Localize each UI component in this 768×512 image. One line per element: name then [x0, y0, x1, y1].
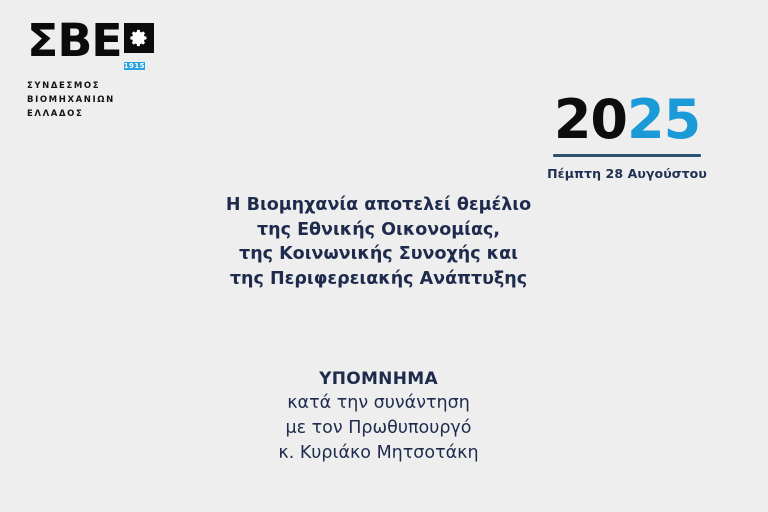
logo-badge-group: 1915: [124, 23, 154, 72]
event-year-prefix: 20: [554, 88, 627, 151]
sbe-logo: ΣΒΕ 1915 ΣΥΝΔΕΣΜΟΣ ΒΙΟΜΗΧΑΝΙΩΝ ΕΛΛΑΔΟΣ: [27, 22, 227, 121]
event-year-suffix: 25: [627, 88, 700, 151]
memo-block: ΥΠΟΜΝΗΜΑ κατά την συνάντηση με τον Πρωθυ…: [0, 367, 757, 466]
logo-subtitle: ΣΥΝΔΕΣΜΟΣ ΒΙΟΜΗΧΑΝΙΩΝ ΕΛΛΑΔΟΣ: [27, 79, 227, 121]
logo-founded-badge: 1915: [124, 62, 145, 70]
slide-root: ΣΒΕ 1915 ΣΥΝΔΕΣΜΟΣ ΒΙΟΜΗΧΑΝΙΩΝ ΕΛΛΑΔΟΣ 2…: [0, 0, 768, 512]
gear-icon: [124, 23, 154, 53]
memo-line-3: κ. Κυριάκο Μητσοτάκη: [0, 441, 757, 466]
event-date-block: 2025 Πέμπτη 28 Αυγούστου: [542, 92, 712, 181]
event-year: 2025: [542, 92, 712, 148]
logo-subtitle-line-3: ΕΛΛΑΔΟΣ: [27, 107, 227, 121]
headline-line-1: Η Βιομηχανία αποτελεί θεμέλιο: [0, 193, 757, 218]
logo-wordmark: ΣΒΕ: [27, 22, 122, 60]
headline-line-4: της Περιφερειακής Ανάπτυξης: [0, 267, 757, 292]
date-divider: [553, 154, 701, 157]
headline: Η Βιομηχανία αποτελεί θεμέλιο της Εθνική…: [0, 193, 757, 291]
headline-line-3: της Κοινωνικής Συνοχής και: [0, 242, 757, 267]
logo-mark: ΣΒΕ 1915: [27, 22, 227, 68]
memo-title: ΥΠΟΜΝΗΜΑ: [0, 367, 757, 391]
memo-line-1: κατά την συνάντηση: [0, 391, 757, 416]
memo-line-2: με τον Πρωθυπουργό: [0, 416, 757, 441]
headline-line-2: της Εθνικής Οικονομίας,: [0, 218, 757, 243]
event-date-text: Πέμπτη 28 Αυγούστου: [542, 166, 712, 181]
logo-subtitle-line-2: ΒΙΟΜΗΧΑΝΙΩΝ: [27, 93, 227, 107]
logo-subtitle-line-1: ΣΥΝΔΕΣΜΟΣ: [27, 79, 227, 93]
memo-subtitle: κατά την συνάντηση με τον Πρωθυπουργό κ.…: [0, 391, 757, 466]
